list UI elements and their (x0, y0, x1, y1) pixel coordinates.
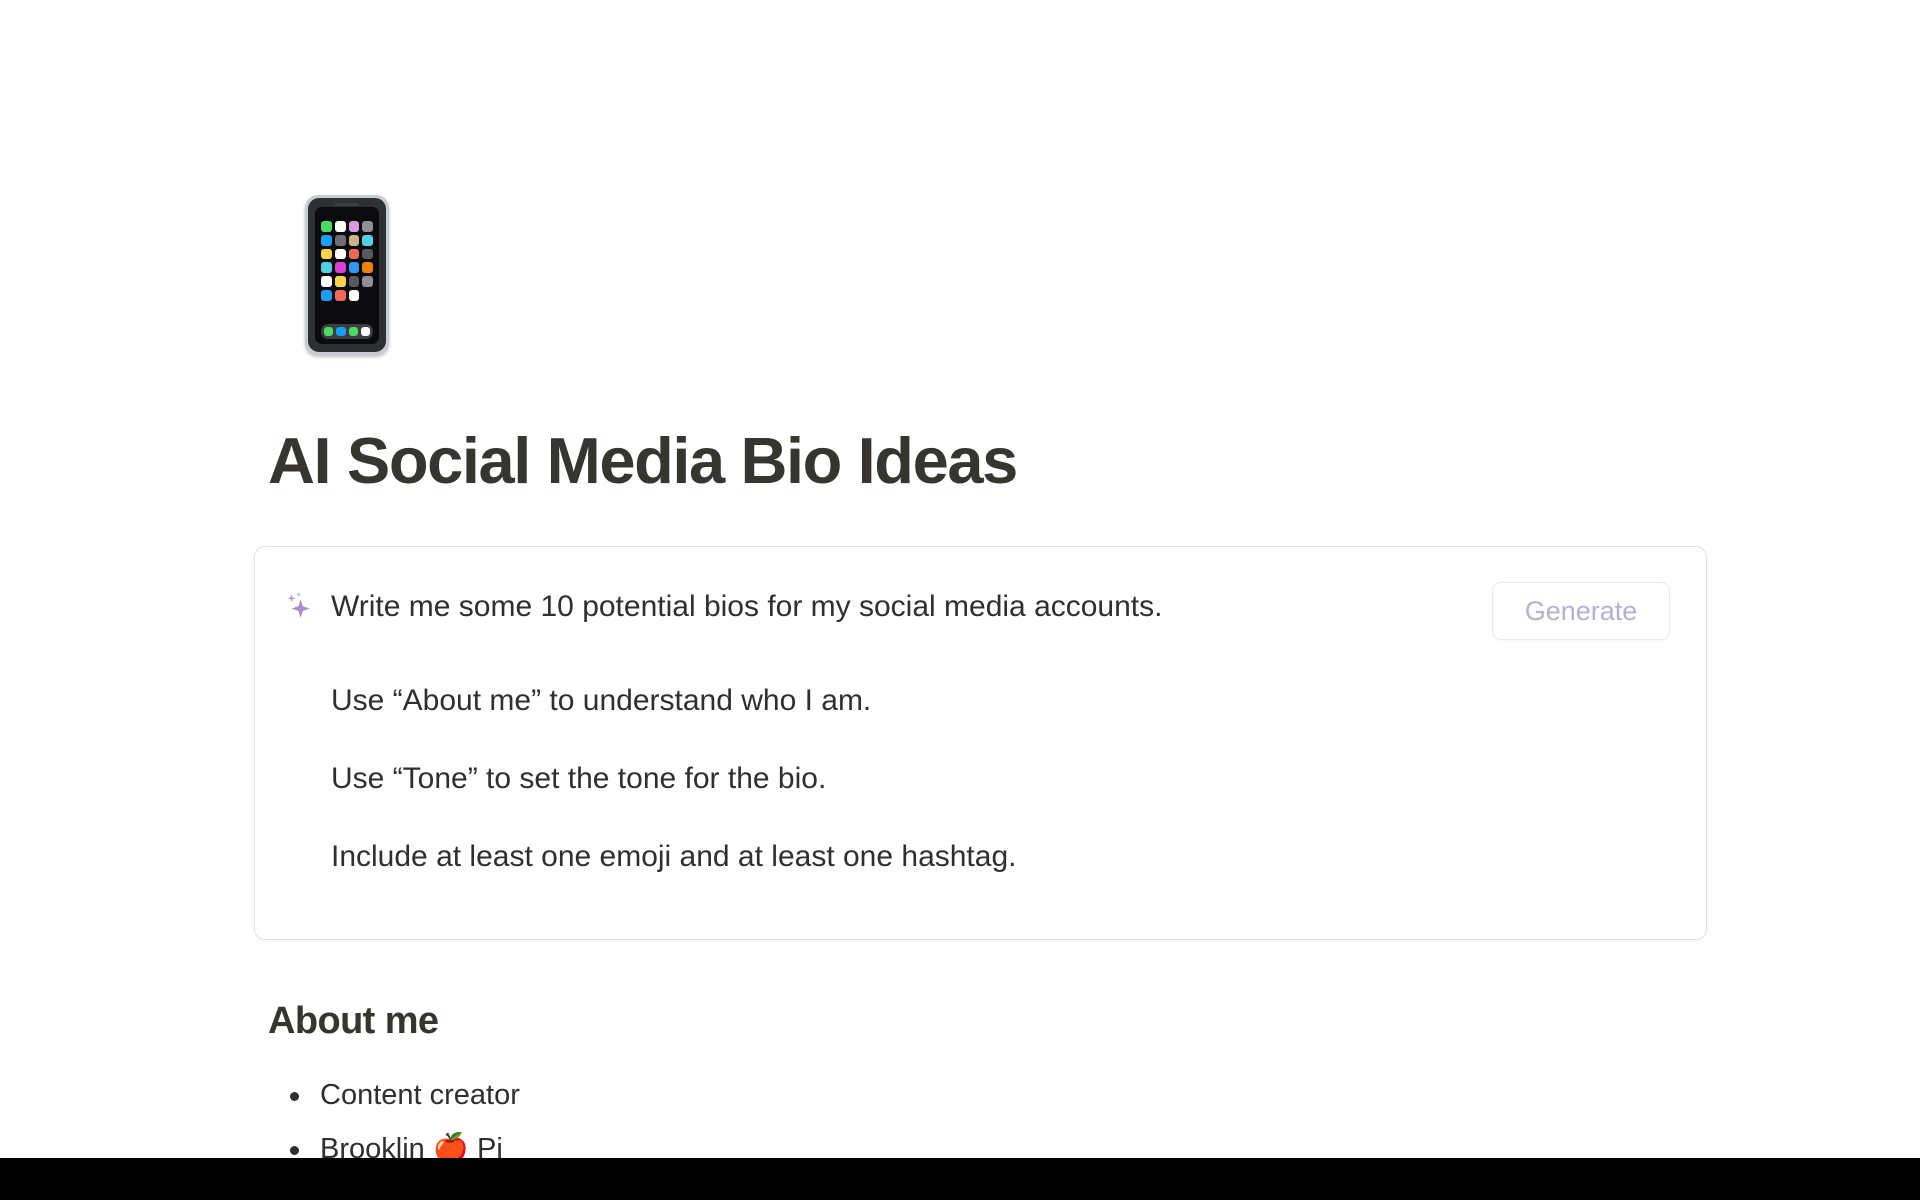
list-item[interactable]: Brooklin 🍎 Pi (268, 1122, 1708, 1158)
generate-button[interactable]: Generate (1492, 582, 1670, 640)
list-item[interactable]: Content creator (268, 1068, 1708, 1122)
ai-prompt-card[interactable]: Write me some 10 potential bios for my s… (254, 546, 1707, 940)
page-title: AI Social Media Bio Ideas (268, 425, 1017, 498)
ai-sparkle-icon (281, 589, 315, 623)
prompt-text[interactable]: Write me some 10 potential bios for my s… (331, 579, 1492, 629)
about-me-heading: About me (268, 1000, 438, 1043)
page-root: AI Social Media Bio Ideas Write me some … (0, 0, 1920, 1200)
phone-body (305, 195, 389, 355)
phone-dock (321, 324, 373, 339)
document-viewport: AI Social Media Bio Ideas Write me some … (0, 0, 1920, 1158)
bottom-letterbox-bar (0, 1158, 1920, 1200)
prompt-first-row: Write me some 10 potential bios for my s… (255, 579, 1706, 645)
phone-screen (315, 207, 379, 344)
prompt-instruction-2[interactable]: Use “Tone” to set the tone for the bio. (255, 757, 1706, 801)
prompt-instruction-1[interactable]: Use “About me” to understand who I am. (255, 679, 1706, 723)
prompt-instruction-3[interactable]: Include at least one emoji and at least … (255, 835, 1706, 879)
phone-notch (335, 203, 359, 206)
about-me-list: Content creator Brooklin 🍎 Pi (268, 1068, 1708, 1158)
phone-app-grid (321, 218, 373, 321)
mobile-phone-emoji-icon[interactable] (305, 195, 389, 355)
phone-bezel (308, 198, 386, 352)
